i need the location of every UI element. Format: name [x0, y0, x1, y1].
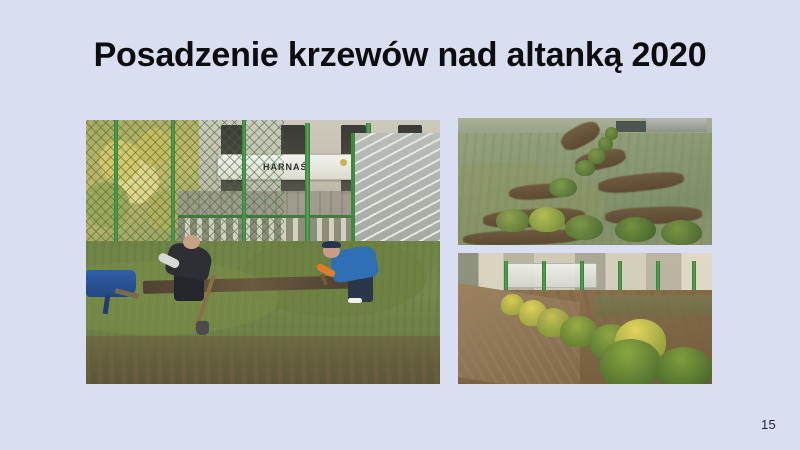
photo-scene: HARNAŚ: [86, 120, 440, 384]
worker-shoe: [348, 298, 362, 303]
fence-post: [242, 120, 246, 252]
planted-shrub: [615, 217, 656, 242]
golden-thuja-photo[interactable]: [458, 253, 712, 384]
fence-post: [114, 120, 118, 252]
shovel-blade: [196, 321, 209, 335]
page-title: Posadzenie krzewów nad altanką 2020: [40, 34, 760, 76]
workers-planting-photo[interactable]: HARNAŚ: [86, 120, 440, 384]
golden-thuja-shrub: [600, 339, 661, 384]
worker-right: [320, 239, 384, 302]
planted-shrub: [496, 209, 529, 232]
photo-scene: [458, 118, 712, 245]
planted-shrub: [661, 220, 702, 245]
wheelbarrow-leg: [103, 295, 111, 314]
fence-post: [171, 120, 175, 252]
bare-soil-layer: [86, 336, 440, 384]
page-number: 15: [761, 417, 776, 432]
planted-shrub: [575, 160, 595, 177]
planted-row-photo[interactable]: [458, 118, 712, 245]
wheelbarrow: [86, 270, 136, 312]
planted-shrub: [549, 178, 577, 197]
background-building: [646, 118, 707, 132]
planted-shrub: [565, 215, 603, 240]
photo-scene: [458, 253, 712, 384]
shovel-handle: [320, 274, 328, 286]
worker-left: [164, 234, 221, 300]
worker-cap: [322, 241, 341, 248]
metal-staircase-layer: [351, 133, 440, 252]
fence-post: [305, 123, 310, 250]
background-building: [616, 121, 646, 132]
presentation-slide: Posadzenie krzewów nad altanką 2020 HARN…: [0, 0, 800, 450]
planted-shrub: [529, 207, 565, 232]
golden-thuja-shrub: [656, 347, 712, 384]
banner-badge-icon: [340, 159, 347, 166]
grass-strip-layer: [595, 295, 712, 316]
